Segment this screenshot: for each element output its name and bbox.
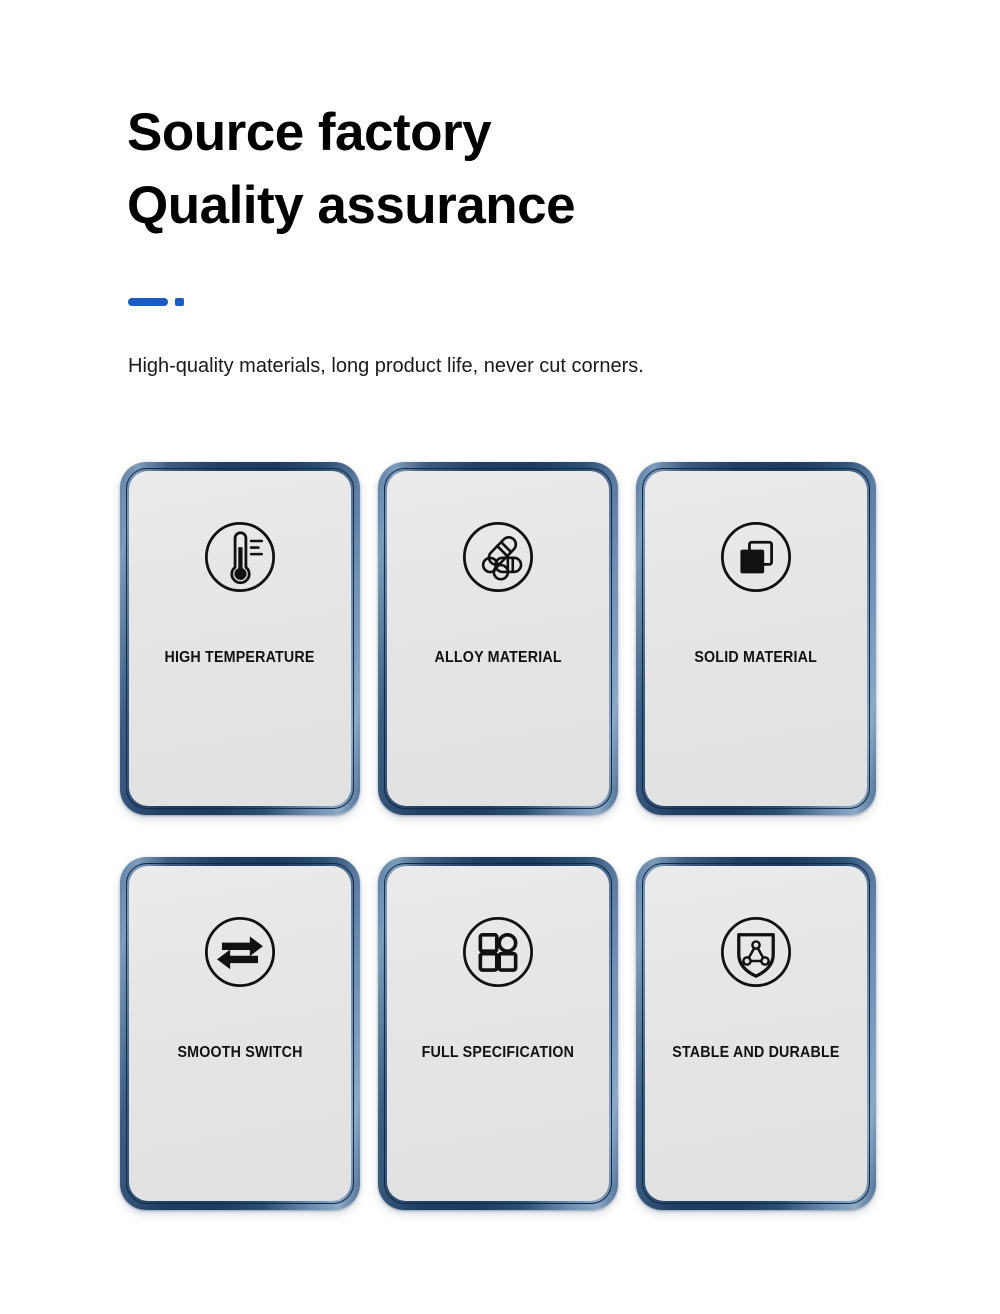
feature-card-panel: SOLID MATERIAL	[645, 471, 867, 806]
page-title-line-1: Source factory	[127, 96, 927, 169]
feature-card-full-specification[interactable]: FULL SPECIFICATION	[378, 857, 618, 1210]
divider-dot-icon	[175, 298, 184, 306]
feature-card-panel: FULL SPECIFICATION	[387, 866, 609, 1201]
feature-card-solid-material[interactable]: SOLID MATERIAL	[636, 462, 876, 815]
shield-network-icon	[715, 911, 797, 993]
page-header: Source factory Quality assurance	[127, 96, 927, 242]
feature-card-grid: HIGH TEMPERATURE	[120, 462, 876, 1210]
feature-card-label: STABLE AND DURABLE	[672, 1044, 839, 1062]
feature-card-panel: SMOOTH SWITCH	[129, 866, 351, 1201]
feature-card-label: FULL SPECIFICATION	[422, 1044, 575, 1062]
feature-card-label: ALLOY MATERIAL	[434, 649, 561, 667]
feature-card-stable-and-durable[interactable]: STABLE AND DURABLE	[636, 857, 876, 1210]
section-divider	[128, 298, 184, 306]
two-way-arrows-icon	[199, 911, 281, 993]
grid-shapes-icon	[457, 911, 539, 993]
feature-card-alloy-material[interactable]: ALLOY MATERIAL	[378, 462, 618, 815]
feature-card-high-temperature[interactable]: HIGH TEMPERATURE	[120, 462, 360, 815]
feature-card-panel: ALLOY MATERIAL	[387, 471, 609, 806]
feature-card-label: SOLID MATERIAL	[695, 649, 818, 667]
feature-card-panel: HIGH TEMPERATURE	[129, 471, 351, 806]
feature-card-smooth-switch[interactable]: SMOOTH SWITCH	[120, 857, 360, 1210]
divider-bar-icon	[128, 298, 168, 306]
page-subtitle: High-quality materials, long product lif…	[128, 352, 644, 380]
feature-card-label: HIGH TEMPERATURE	[165, 649, 315, 667]
metal-bars-icon	[457, 516, 539, 598]
feature-highlight-page: Source factory Quality assurance High-qu…	[0, 0, 1000, 1314]
thermometer-icon	[199, 516, 281, 598]
feature-card-label: SMOOTH SWITCH	[177, 1044, 302, 1062]
page-title-line-2: Quality assurance	[127, 169, 927, 242]
feature-card-panel: STABLE AND DURABLE	[645, 866, 867, 1201]
stacked-squares-icon	[715, 516, 797, 598]
